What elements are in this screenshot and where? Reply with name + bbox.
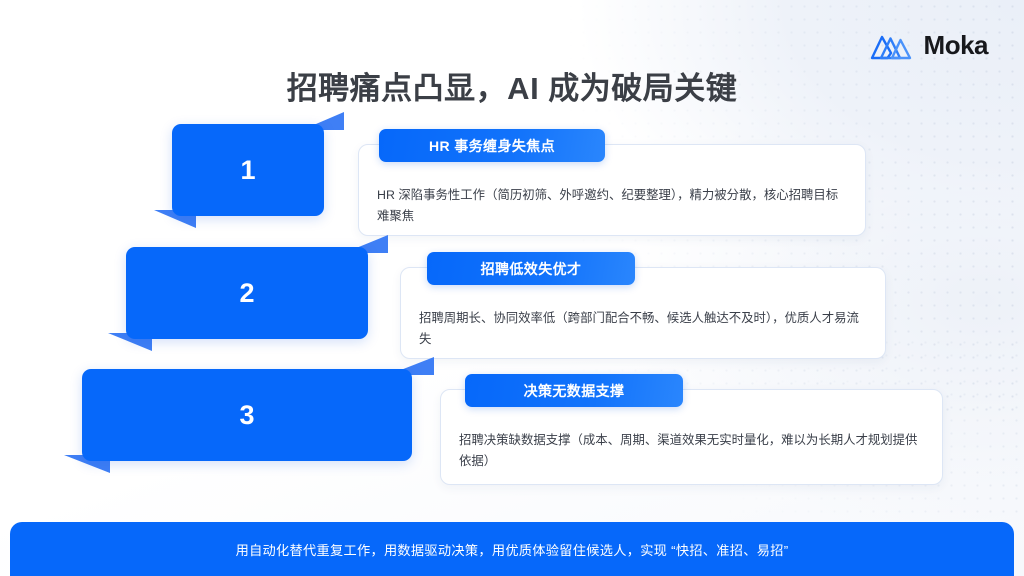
brand-logo: Moka	[869, 30, 988, 61]
footer-banner: 用自动化替代重复工作，用数据驱动决策，用优质体验留住候选人，实现 “快招、准招、…	[10, 522, 1014, 576]
pain-point-card-1: HR 事务缠身失焦点 HR 深陷事务性工作（简历初筛、外呼邀约、纪要整理），精力…	[358, 144, 866, 236]
pain-point-heading-3: 决策无数据支撑	[465, 374, 683, 407]
pain-point-heading-1: HR 事务缠身失焦点	[379, 129, 605, 162]
pain-point-row-1: 1 HR 事务缠身失焦点 HR 深陷事务性工作（简历初筛、外呼邀约、纪要整理），…	[0, 124, 1024, 236]
moka-mountain-logo-icon	[869, 31, 915, 61]
pain-point-heading-2: 招聘低效失优才	[427, 252, 635, 285]
pain-point-body-1: HR 深陷事务性工作（简历初筛、外呼邀约、纪要整理），精力被分散，核心招聘目标难…	[377, 185, 849, 228]
pain-point-body-3: 招聘决策缺数据支撑（成本、周期、渠道效果无实时量化，难以为长期人才规划提供依据）	[459, 430, 926, 473]
number-plate: 3	[82, 369, 412, 461]
number-plate: 2	[126, 247, 368, 339]
number-label: 2	[239, 280, 254, 307]
pain-point-body-2: 招聘周期长、协同效率低（跨部门配合不畅、候选人触达不及时），优质人才易流失	[419, 308, 869, 351]
number-label: 3	[239, 402, 254, 429]
pain-point-card-3: 决策无数据支撑 招聘决策缺数据支撑（成本、周期、渠道效果无实时量化，难以为长期人…	[440, 389, 943, 485]
slide-title: 招聘痛点凸显，AI 成为破局关键	[0, 63, 1024, 108]
brand-name: Moka	[924, 30, 988, 61]
number-label: 1	[240, 157, 255, 184]
number-block-2: 2	[126, 247, 368, 339]
footer-text: 用自动化替代重复工作，用数据驱动决策，用优质体验留住候选人，实现 “快招、准招、…	[236, 540, 789, 559]
number-block-1: 1	[172, 124, 324, 216]
number-block-3: 3	[82, 369, 412, 461]
pain-point-row-2: 2 招聘低效失优才 招聘周期长、协同效率低（跨部门配合不畅、候选人触达不及时），…	[0, 247, 1024, 359]
number-plate: 1	[172, 124, 324, 216]
pain-point-row-3: 3 决策无数据支撑 招聘决策缺数据支撑（成本、周期、渠道效果无实时量化，难以为长…	[0, 369, 1024, 484]
pain-point-card-2: 招聘低效失优才 招聘周期长、协同效率低（跨部门配合不畅、候选人触达不及时），优质…	[400, 267, 886, 359]
